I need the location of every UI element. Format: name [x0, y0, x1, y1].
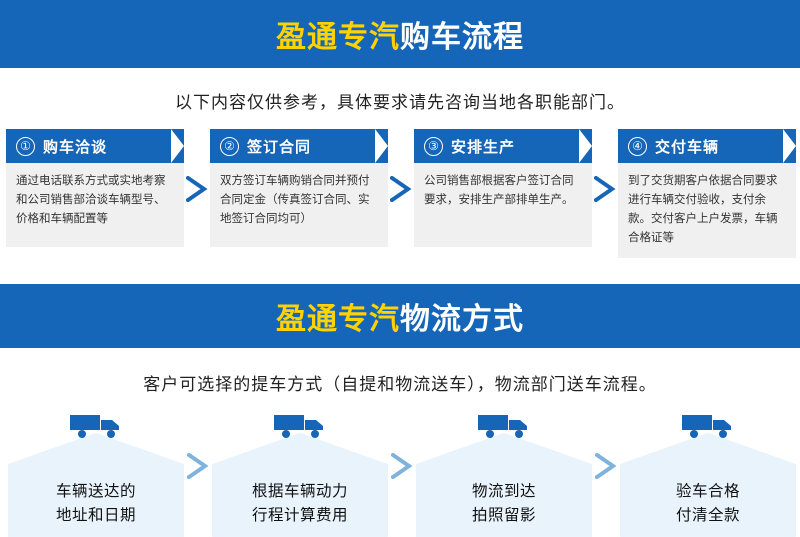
logistics-line1: 物流到达: [472, 480, 536, 503]
truck-icon: [68, 411, 124, 446]
step-number-icon: ②: [220, 137, 239, 156]
logistics-title-bar: 盈通专汽物流方式: [0, 284, 800, 348]
purchase-title-highlight: 盈通专汽: [276, 21, 400, 54]
purchase-process-section: 盈通专汽购车流程 以下内容仅供参考，具体要求请先咨询当地各职能部门。 ① 购车洽…: [0, 0, 800, 258]
purchase-title-rest: 购车流程: [400, 21, 524, 54]
step-header: ④ 交付车辆: [618, 129, 796, 163]
logistics-line1: 验车合格: [676, 480, 740, 503]
step-body: 公司销售部根据客户签订合同要求，安排生产部排单生产。: [414, 163, 592, 247]
logistics-line2: 行程计算费用: [252, 504, 348, 527]
logistics-line1: 车辆送达的: [56, 480, 136, 503]
logistics-card-body: 物流到达 拍照留影: [416, 433, 592, 537]
truck-icon: [680, 411, 736, 446]
section-divider: [0, 258, 800, 284]
step-number-icon: ④: [628, 137, 647, 156]
arrow-right-icon: [388, 129, 414, 249]
logistics-card-body: 车辆送达的 地址和日期: [8, 433, 184, 537]
step-label: 购车洽谈: [43, 136, 107, 157]
step-label: 交付车辆: [655, 136, 719, 157]
logistics-subtitle: 客户可选择的提车方式（自提和物流送车），物流部门送车流程。: [0, 348, 800, 409]
step-label: 签订合同: [247, 136, 311, 157]
step-number-icon: ①: [16, 137, 35, 156]
step-card: ① 购车洽谈 通过电话联系方式或实地考察和公司销售部洽谈车辆型号、价格和车辆配置…: [6, 129, 184, 247]
step-header: ③ 安排生产: [414, 129, 592, 163]
purchase-subtitle: 以下内容仅供参考，具体要求请先咨询当地各职能部门。: [0, 68, 800, 129]
arrow-right-icon: [592, 409, 620, 537]
logistics-steps: 车辆送达的 地址和日期 根据车辆动力 行程计算费用: [0, 409, 800, 537]
step-header: ② 签订合同: [210, 129, 388, 163]
logistics-card: 验车合格 付清全款: [620, 409, 796, 537]
logistics-card-body: 根据车辆动力 行程计算费用: [212, 433, 388, 537]
logistics-line1: 根据车辆动力: [252, 480, 348, 503]
purchase-title-bar: 盈通专汽购车流程: [0, 0, 800, 68]
step-card: ③ 安排生产 公司销售部根据客户签订合同要求，安排生产部排单生产。: [414, 129, 592, 247]
step-body: 通过电话联系方式或实地考察和公司销售部洽谈车辆型号、价格和车辆配置等: [6, 163, 184, 247]
step-card: ② 签订合同 双方签订车辆购销合同并预付合同定金（传真签订合同、实地签订合同均可…: [210, 129, 388, 247]
step-card: ④ 交付车辆 到了交货期客户依据合同要求进行车辆交付验收，支付余款。交付客户上户…: [618, 129, 796, 258]
arrow-right-icon: [184, 129, 210, 249]
logistics-card: 物流到达 拍照留影: [416, 409, 592, 537]
step-body: 到了交货期客户依据合同要求进行车辆交付验收，支付余款。交付客户上户发票，车辆合格…: [618, 163, 796, 258]
logistics-card: 根据车辆动力 行程计算费用: [212, 409, 388, 537]
purchase-title: 盈通专汽购车流程: [276, 12, 524, 56]
step-header: ① 购车洽谈: [6, 129, 184, 163]
logistics-title-highlight: 盈通专汽: [276, 303, 400, 336]
logistics-line2: 地址和日期: [56, 504, 136, 527]
arrow-right-icon: [388, 409, 416, 537]
truck-icon: [476, 411, 532, 446]
arrow-right-icon: [184, 409, 212, 537]
logistics-line2: 付清全款: [676, 504, 740, 527]
logistics-card-body: 验车合格 付清全款: [620, 433, 796, 537]
logistics-line2: 拍照留影: [472, 504, 536, 527]
step-number-icon: ③: [424, 137, 443, 156]
logistics-title-rest: 物流方式: [400, 303, 524, 336]
step-label: 安排生产: [451, 136, 515, 157]
purchase-steps: ① 购车洽谈 通过电话联系方式或实地考察和公司销售部洽谈车辆型号、价格和车辆配置…: [0, 129, 800, 258]
logistics-card: 车辆送达的 地址和日期: [8, 409, 184, 537]
step-body: 双方签订车辆购销合同并预付合同定金（传真签订合同、实地签订合同均可）: [210, 163, 388, 247]
logistics-title: 盈通专汽物流方式: [276, 294, 524, 338]
truck-icon: [272, 411, 328, 446]
logistics-section: 盈通专汽物流方式 客户可选择的提车方式（自提和物流送车），物流部门送车流程。 车…: [0, 284, 800, 537]
arrow-right-icon: [592, 129, 618, 249]
